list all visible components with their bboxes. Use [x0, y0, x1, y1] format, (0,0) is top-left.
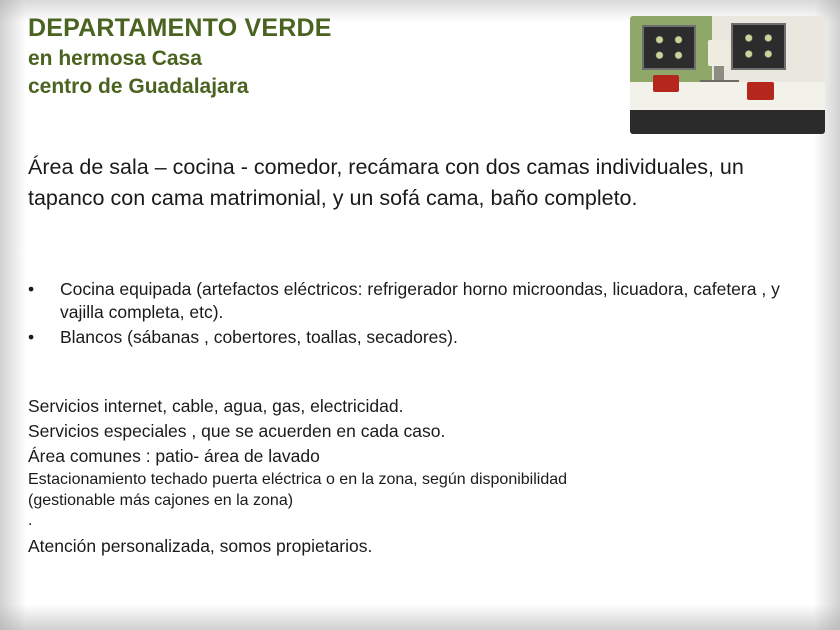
services-line-common-areas: Área comunes : patio- área de lavado: [28, 444, 818, 469]
list-item-text: Blancos (sábanas , cobertores, toallas, …: [50, 326, 828, 349]
bullet-marker-icon: •: [28, 278, 50, 301]
photo-lamp-base: [714, 66, 724, 80]
services-line-special: Servicios especiales , que se acuerden e…: [28, 419, 818, 444]
photo-headboard-pattern-right: [739, 30, 778, 62]
services-line-attention: Atención personalizada, somos propietari…: [28, 534, 818, 559]
bullet-marker-icon: •: [28, 326, 50, 349]
photo-red-pillow-right: [747, 82, 774, 100]
services-line-internet: Servicios internet, cable, agua, gas, el…: [28, 394, 818, 419]
bedroom-photo: [630, 16, 825, 134]
services-block: Servicios internet, cable, agua, gas, el…: [28, 394, 818, 559]
services-line-dot: .: [28, 511, 818, 530]
list-item: • Cocina equipada (artefactos eléctricos…: [28, 278, 828, 324]
photo-inner: [630, 16, 825, 134]
photo-headboard-pattern-left: [650, 32, 689, 62]
slide-canvas: DEPARTAMENTO VERDE en hermosa Casa centr…: [0, 0, 840, 630]
title-block: DEPARTAMENTO VERDE en hermosa Casa centr…: [28, 14, 628, 100]
title-subline-2: centro de Guadalajara: [28, 74, 628, 100]
title-subline-1: en hermosa Casa: [28, 46, 628, 72]
page-title: DEPARTAMENTO VERDE: [28, 14, 628, 44]
list-item-text: Cocina equipada (artefactos eléctricos: …: [50, 278, 828, 324]
photo-red-pillow-left: [653, 75, 678, 92]
services-line-parking: Estacionamiento techado puerta eléctrica…: [28, 469, 818, 490]
photo-headboard-right: [731, 23, 786, 69]
list-item: • Blancos (sábanas , cobertores, toallas…: [28, 326, 828, 349]
services-line-parking-note: (gestionable más cajones en la zona): [28, 490, 818, 511]
lead-paragraph: Área de sala – cocina - comedor, recámar…: [28, 152, 788, 213]
photo-bed-base: [630, 110, 825, 134]
photo-lampshade: [708, 40, 729, 66]
photo-headboard-left: [642, 25, 697, 69]
bullet-list: • Cocina equipada (artefactos eléctricos…: [28, 278, 828, 351]
